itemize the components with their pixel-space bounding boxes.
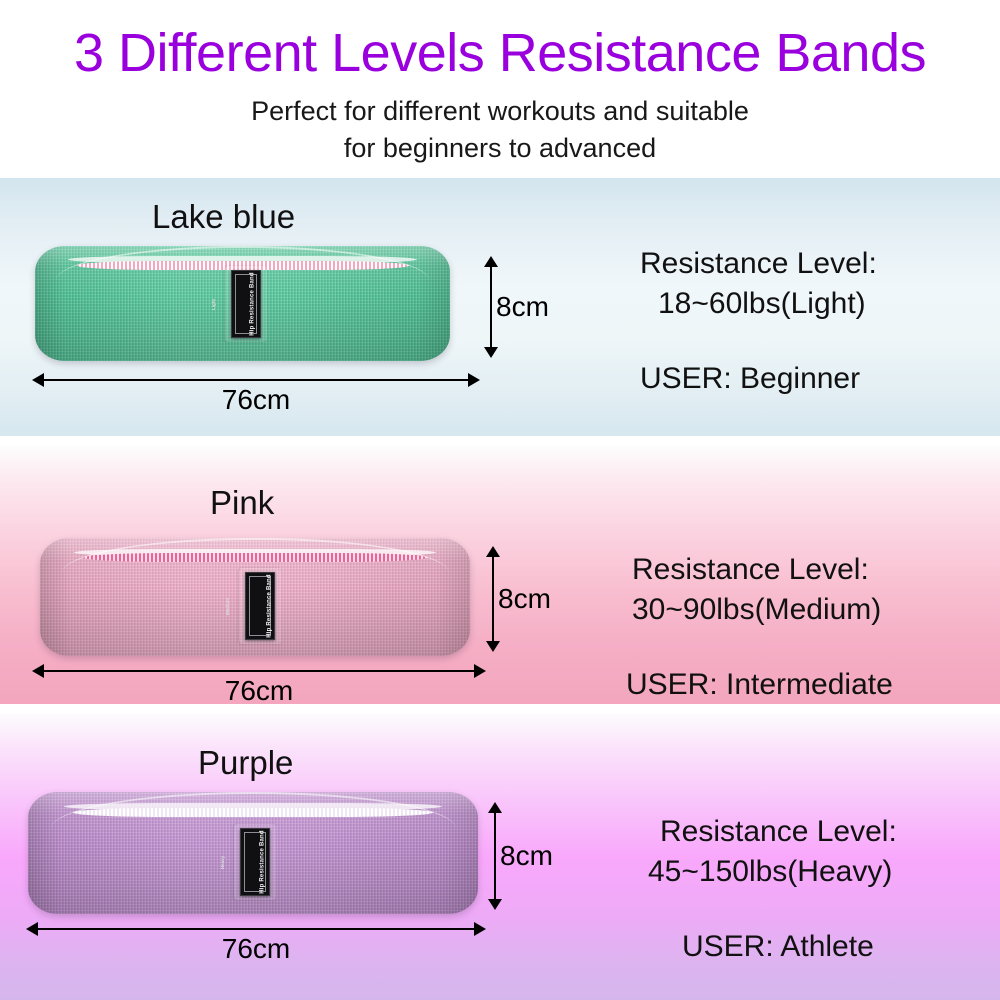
band-product-tag: Light Hip Resistance Band: [231, 270, 261, 338]
resistance-level-label: Resistance Level:: [640, 244, 877, 284]
resistance-level-value: 18~60lbs(Light): [640, 284, 877, 324]
band-specs-purple: Resistance Level: 45~150lbs(Heavy) USER:…: [660, 812, 897, 964]
band-panel-pink: Pink Medium Hip Resistance Band 8cm 76cm: [0, 446, 1000, 704]
resistance-band-image-purple: Heavy Hip Resistance Band: [28, 792, 478, 914]
band-product-tag-inner: Heavy Hip Resistance Band: [244, 832, 266, 892]
resistance-level-label: Resistance Level:: [660, 812, 897, 852]
arrow-head-down-icon: [484, 347, 498, 358]
header: 3 Different Levels Resistance Bands Perf…: [0, 0, 1000, 175]
width-dimension-arrow: 76cm: [32, 370, 480, 390]
width-dimension-label: 76cm: [32, 675, 486, 704]
band-tag-level: Heavy: [220, 855, 225, 868]
band-product-tag-inner: Light Hip Resistance Band: [235, 274, 257, 334]
height-dimension-label: 8cm: [496, 291, 549, 323]
height-dimension-arrow: 8cm: [484, 802, 506, 910]
height-dimension-label: 8cm: [498, 583, 551, 615]
band-panel-lake-blue: Lake blue Light Hip Resistance Band 8cm …: [0, 178, 1000, 436]
band-product-tag: Medium Hip Resistance Band: [245, 572, 275, 640]
arrow-line: [35, 928, 477, 930]
band-tag-brand: Hip Resistance Band: [260, 830, 266, 893]
band-product-tag-inner: Medium Hip Resistance Band: [249, 576, 271, 636]
arrow-line: [492, 554, 494, 644]
band-tag-level: Medium: [225, 597, 230, 614]
band-tag-level: Light: [211, 299, 216, 310]
height-dimension-arrow: 8cm: [482, 546, 504, 652]
resistance-level-label: Resistance Level:: [632, 550, 893, 590]
width-dimension-label: 76cm: [26, 933, 486, 965]
band-tag-brand: Hip Resistance Band: [250, 272, 256, 335]
height-dimension-arrow: 8cm: [480, 256, 502, 358]
subtitle-line-2: for beginners to advanced: [0, 130, 1000, 167]
user-level-label: USER: Athlete: [682, 930, 897, 964]
arrow-head-down-icon: [486, 641, 500, 652]
resistance-band-image-pink: Medium Hip Resistance Band: [40, 538, 470, 656]
user-level-label: USER: Intermediate: [626, 668, 893, 702]
band-product-tag: Heavy Hip Resistance Band: [240, 828, 270, 896]
arrow-head-down-icon: [488, 899, 502, 910]
arrow-line: [494, 810, 496, 902]
band-specs-pink: Resistance Level: 30~90lbs(Medium) USER:…: [632, 550, 893, 702]
width-dimension-label: 76cm: [32, 384, 480, 416]
band-panel-purple: Purple Heavy Hip Resistance Band 8cm 76c…: [0, 714, 1000, 1000]
resistance-level-value: 45~150lbs(Heavy): [648, 852, 897, 892]
arrow-line: [490, 264, 492, 350]
arrow-line: [41, 379, 471, 381]
height-dimension-label: 8cm: [500, 840, 553, 872]
resistance-band-image-lake-blue: Light Hip Resistance Band: [35, 246, 450, 361]
width-dimension-arrow: 76cm: [32, 661, 486, 681]
band-color-name: Pink: [210, 484, 274, 522]
band-color-name: Purple: [198, 744, 293, 782]
width-dimension-arrow: 76cm: [26, 919, 486, 939]
band-color-name: Lake blue: [152, 198, 295, 236]
resistance-level-value: 30~90lbs(Medium): [632, 590, 893, 630]
subtitle-line-1: Perfect for different workouts and suita…: [0, 93, 1000, 130]
band-tag-brand: Hip Resistance Band: [267, 574, 273, 637]
user-level-label: USER: Beginner: [640, 362, 877, 396]
page-title: 3 Different Levels Resistance Bands: [0, 22, 1000, 84]
band-specs-lake-blue: Resistance Level: 18~60lbs(Light) USER: …: [640, 244, 877, 396]
arrow-line: [41, 670, 477, 672]
